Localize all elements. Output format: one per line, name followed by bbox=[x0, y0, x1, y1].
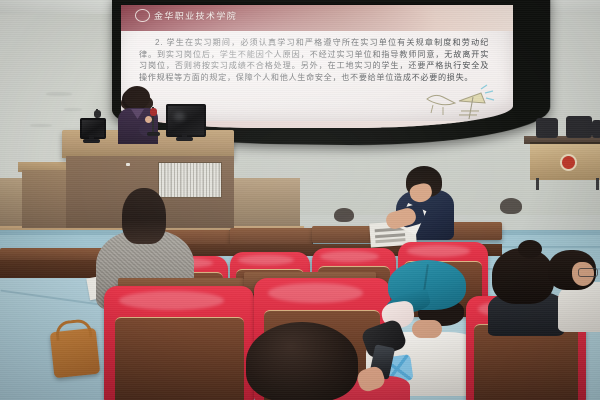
seat-highlight bbox=[238, 255, 294, 266]
red-circle-emblem-icon bbox=[562, 156, 575, 169]
slide-logo: 金华职业技术学院 bbox=[135, 9, 237, 22]
slide-body-text: 2. 学生在实习期间，必须认真学习和严格遵守所在实习单位有关规章制度和劳动纪律。… bbox=[139, 37, 489, 83]
console-leg bbox=[596, 178, 599, 190]
slide-header-band: 金华职业技术学院 bbox=[121, 5, 513, 31]
indicator-led-icon bbox=[126, 163, 130, 166]
leather-handbag bbox=[50, 328, 101, 379]
seat-highlight bbox=[320, 251, 379, 262]
audience-member-navy-jacket bbox=[388, 166, 478, 250]
auditorium-seat-foreground bbox=[104, 286, 254, 400]
audience-member-dark-hair bbox=[246, 322, 416, 400]
desk-row-mid bbox=[230, 228, 313, 245]
desktop-monitor-right bbox=[166, 104, 202, 133]
seat-highlight bbox=[268, 283, 363, 303]
wall-mark bbox=[30, 124, 52, 127]
console-chair bbox=[536, 118, 558, 138]
lecture-hall-photo: 金华职业技术学院 2. 学生在实习期间，必须认真学习和严格遵守所在实习单位有关规… bbox=[0, 0, 600, 400]
distant-attendee-head bbox=[500, 198, 522, 214]
console-leg bbox=[536, 178, 539, 190]
seat-back-panel bbox=[115, 317, 244, 400]
monitor-foot bbox=[83, 139, 100, 143]
console-chair bbox=[592, 120, 600, 138]
podium-side bbox=[22, 170, 70, 228]
eyeglasses-icon bbox=[578, 268, 598, 277]
audience-member-glasses bbox=[548, 250, 600, 336]
presenter-hair-top bbox=[124, 86, 150, 108]
hair bbox=[122, 188, 166, 244]
distant-attendee-head bbox=[334, 208, 354, 222]
desktop-monitor-left bbox=[80, 118, 102, 135]
mic-head bbox=[94, 110, 101, 118]
oval-ring-logo-icon bbox=[135, 9, 150, 22]
mic-head bbox=[150, 108, 157, 116]
monitor-glare bbox=[174, 112, 186, 121]
wall-mark bbox=[46, 92, 72, 96]
seat-highlight bbox=[119, 291, 224, 310]
beach-umbrella-sketch-icon bbox=[423, 81, 497, 123]
wall-mark bbox=[64, 108, 82, 111]
mic-base bbox=[147, 132, 160, 136]
slide-paragraph: 2. 学生在实习期间，必须认真学习和严格遵守所在实习单位有关规章制度和劳动纪律。… bbox=[139, 38, 489, 82]
slide-org-name: 金华职业技术学院 bbox=[154, 9, 238, 22]
presenter-hand bbox=[145, 116, 152, 123]
console-chair bbox=[566, 116, 592, 138]
seat-highlight bbox=[407, 245, 470, 257]
hair-bun bbox=[518, 240, 542, 258]
neck bbox=[412, 320, 442, 338]
monitor-foot bbox=[176, 137, 193, 141]
hair bbox=[246, 322, 358, 400]
